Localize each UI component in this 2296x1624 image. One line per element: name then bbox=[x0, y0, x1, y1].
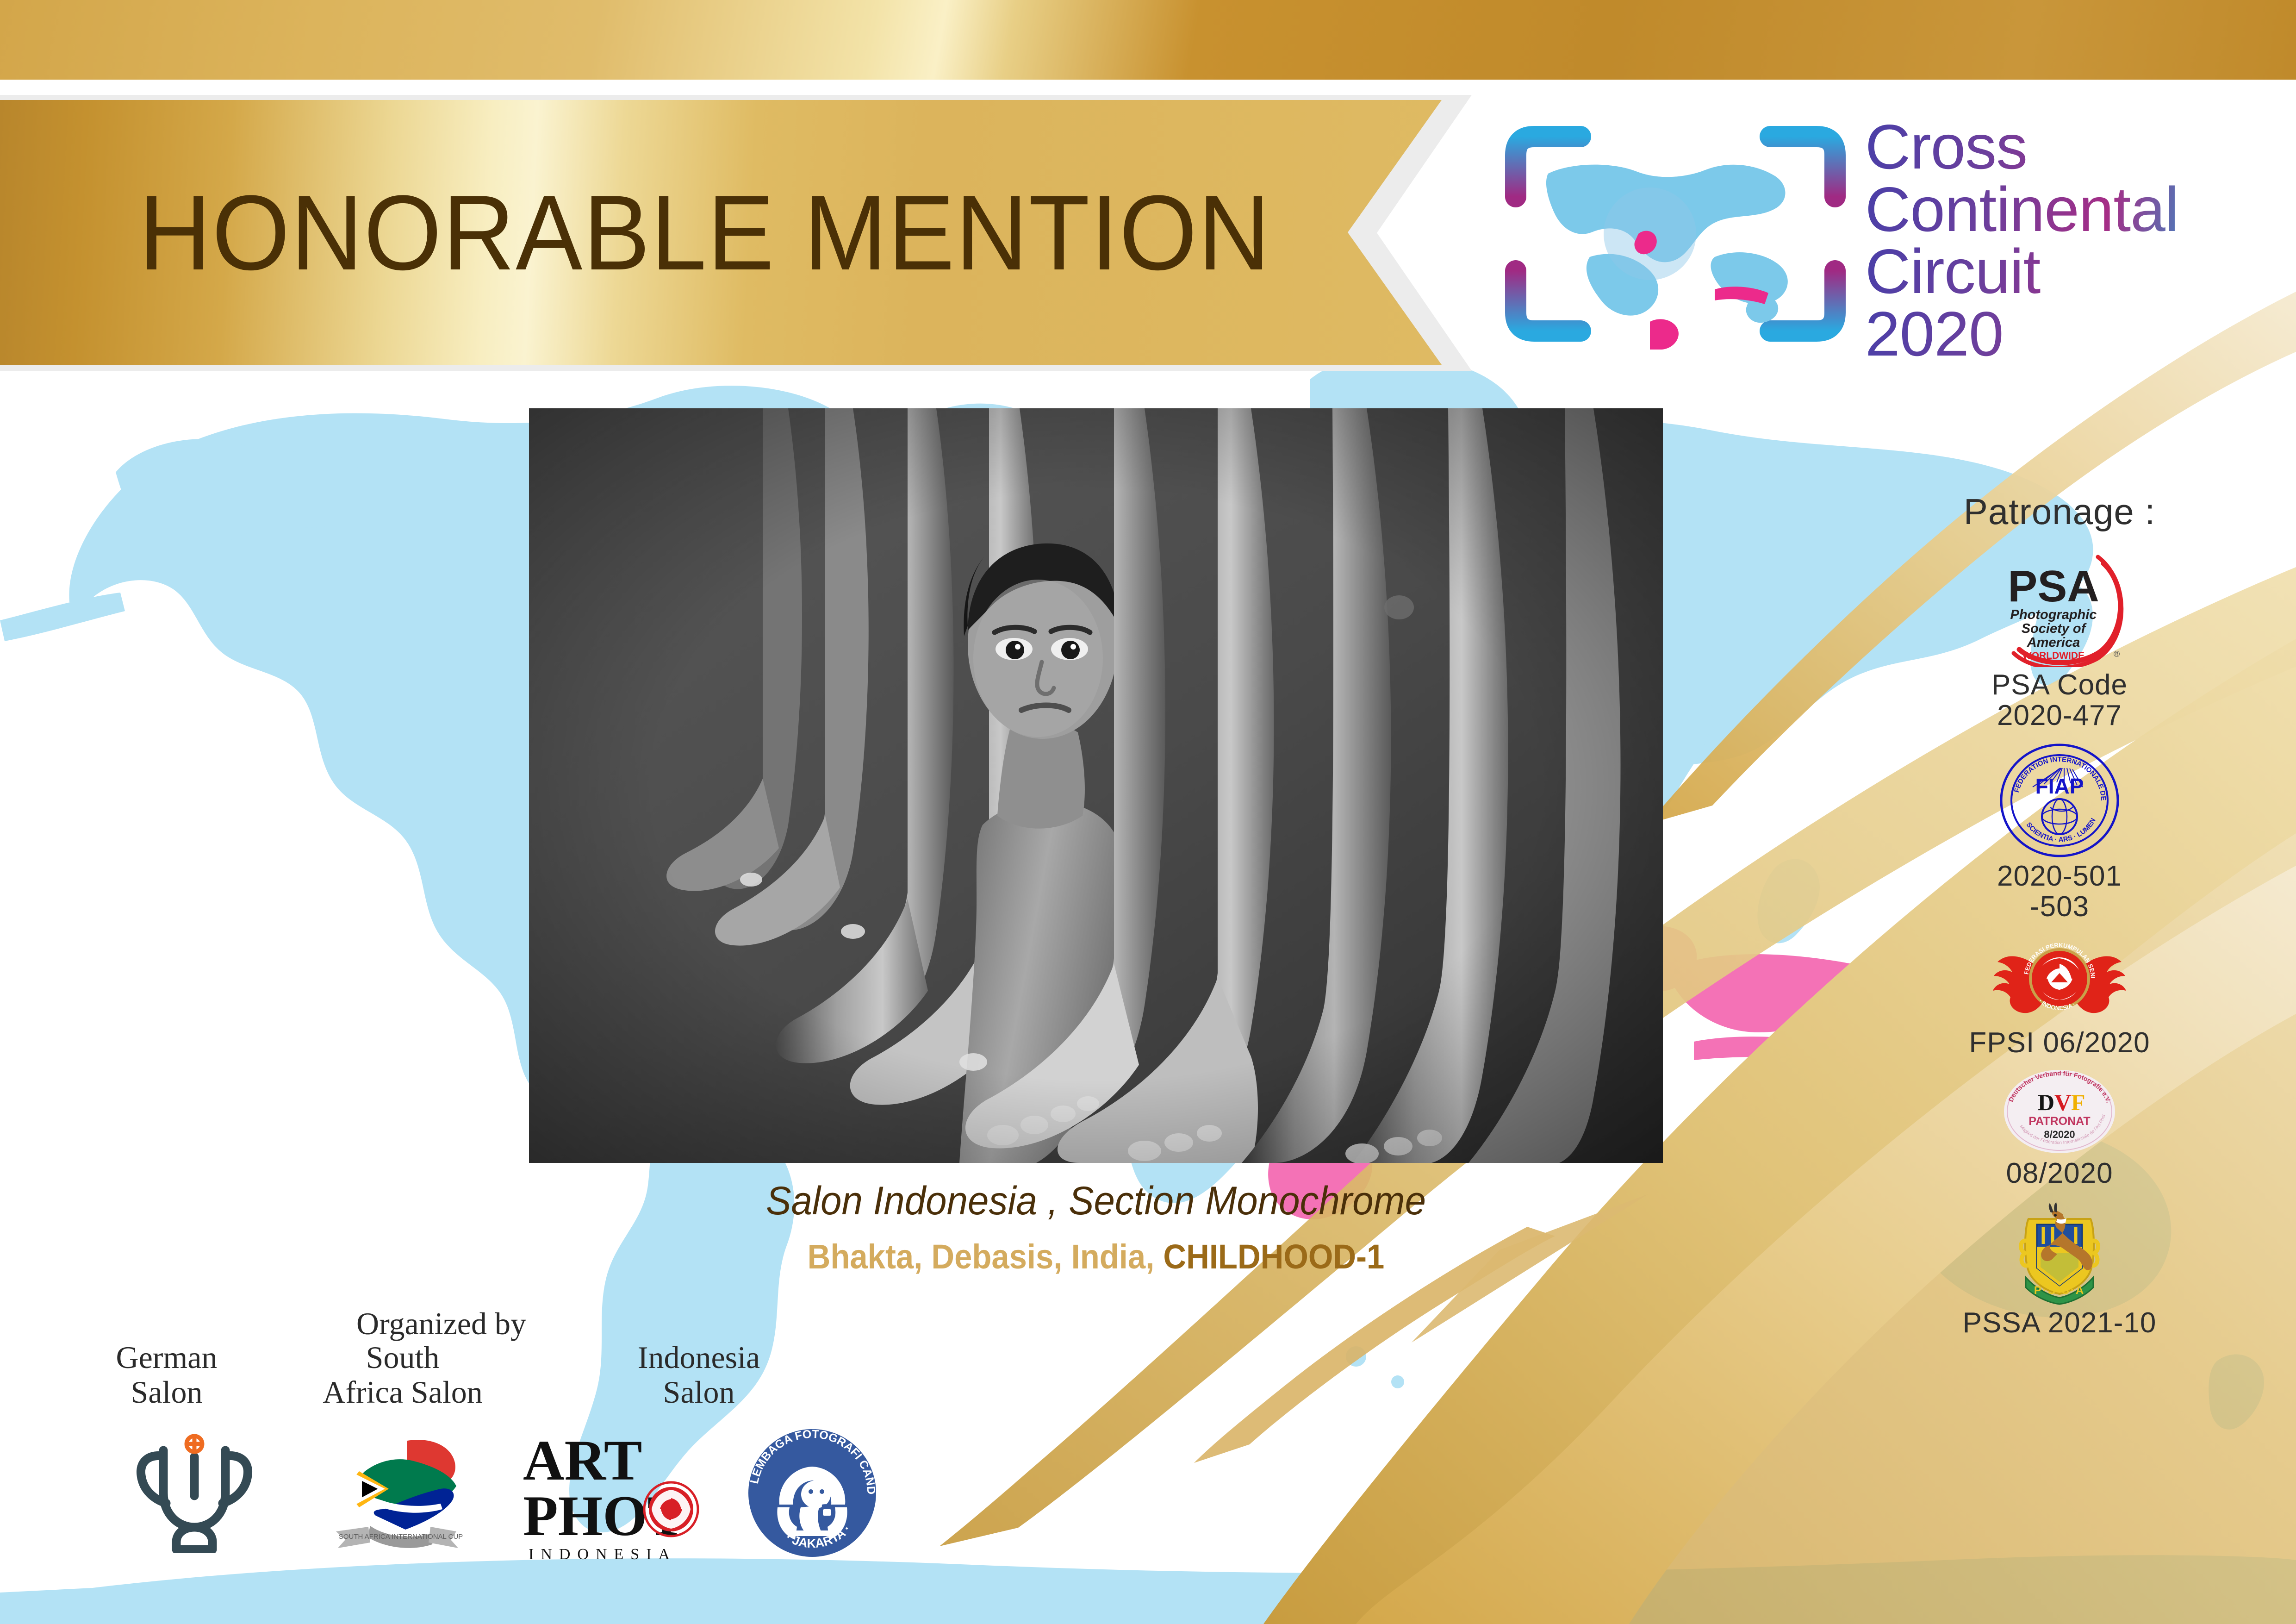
patronage-heading: Patronage : bbox=[1893, 491, 2226, 533]
fpsi-code: FPSI 06/2020 bbox=[1893, 1028, 2226, 1058]
brand-wordmark: Cross Continental Circuit 2020 bbox=[1865, 116, 2282, 365]
trophy-icon bbox=[132, 1428, 257, 1553]
svg-text:America: America bbox=[2027, 635, 2080, 650]
svg-text:Society of: Society of bbox=[2022, 621, 2087, 636]
fiap-acronym: FIAP bbox=[2035, 774, 2084, 798]
svg-text:P·S·S·A: P·S·S·A bbox=[2034, 1284, 2085, 1297]
organizer-label-german: German Salon bbox=[116, 1340, 217, 1410]
organizer-indonesia-salon: Indonesia Salon bbox=[606, 1340, 791, 1410]
brand-line-2: Continental bbox=[1865, 178, 2282, 241]
svg-text:D: D bbox=[2038, 1089, 2054, 1115]
svg-text:V: V bbox=[2054, 1089, 2071, 1115]
svg-text:8/2020: 8/2020 bbox=[2044, 1129, 2075, 1140]
entry-title: CHILDHOOD-1 bbox=[1163, 1237, 1384, 1276]
organizer-german-salon: German Salon bbox=[83, 1340, 250, 1410]
winning-photograph bbox=[529, 408, 1663, 1163]
candra-naya-logo-icon: LEMBAGA FOTOGRAFI CANDRA NAYA · JAKARTA … bbox=[731, 1412, 893, 1574]
psa-acronym: PSA bbox=[2008, 562, 2099, 611]
svg-text:WORLDWIDE: WORLDWIDE bbox=[2022, 650, 2084, 661]
fiap-code: 2020-501 -503 bbox=[1893, 861, 2226, 922]
psa-logo-icon: PSA Photographic Society of America WORL… bbox=[1988, 551, 2131, 667]
patronage-item-dvf: Deutscher Verband für Fotografie e.V. D … bbox=[1893, 1068, 2226, 1189]
south-africa-map-icon: SOUTH AFRICA INTERNATIONAL CUP bbox=[319, 1417, 472, 1569]
pssa-logo-icon: P·S·S·A bbox=[2006, 1199, 2113, 1305]
brand-line-4: 2020 bbox=[1865, 303, 2282, 365]
organized-by-label: Organized by bbox=[356, 1305, 526, 1342]
svg-text:PATRONAT: PATRONAT bbox=[2028, 1115, 2090, 1128]
organizer-south-africa-salon: South Africa Salon bbox=[292, 1340, 514, 1410]
fpsi-logo-icon: FEDERASI PERKUMPULAN SENI FOTO · INDONES… bbox=[1990, 932, 2129, 1025]
patronage-item-psa: PSA Photographic Society of America WORL… bbox=[1893, 551, 2226, 731]
salon-section-caption: Salon Indonesia , Section Monochrome bbox=[557, 1178, 1635, 1224]
entry-credit-caption: Bhakta, Debasis, India, CHILDHOOD-1 bbox=[569, 1237, 1624, 1276]
organizer-label-indonesia: Indonesia Salon bbox=[638, 1340, 760, 1410]
art-photo-indonesia-icon: ART PHOT INDONESIA bbox=[518, 1426, 713, 1565]
psa-code: PSA Code 2020-477 bbox=[1893, 670, 2226, 731]
award-title: HONORABLE MENTION bbox=[139, 100, 1270, 365]
organizer-label-south-africa: South Africa Salon bbox=[323, 1340, 483, 1410]
entry-author: Bhakta, Debasis, India, bbox=[808, 1237, 1164, 1276]
art-word: ART bbox=[523, 1429, 642, 1492]
patronage-panel: Patronage : PSA Photographic Society of … bbox=[1893, 491, 2226, 1341]
pssa-code: PSSA 2021-10 bbox=[1893, 1308, 2226, 1338]
dvf-code: 08/2020 bbox=[1893, 1158, 2226, 1189]
world-map-bracket-icon bbox=[1497, 118, 1854, 350]
fiap-logo-icon: FEDERATION INTERNATIONALE DE L'ART FIAP … bbox=[1999, 743, 2120, 858]
dvf-logo-icon: Deutscher Verband für Fotografie e.V. D … bbox=[2002, 1068, 2117, 1156]
patronage-item-fpsi: FEDERASI PERKUMPULAN SENI FOTO · INDONES… bbox=[1893, 932, 2226, 1058]
brand-line-3: Circuit bbox=[1865, 240, 2282, 303]
svg-text:F: F bbox=[2071, 1089, 2085, 1115]
brand-line-1: Cross bbox=[1865, 116, 2282, 178]
patronage-item-pssa: P·S·S·A PSSA 2021-10 bbox=[1893, 1199, 2226, 1338]
indonesia-word: INDONESIA bbox=[529, 1546, 677, 1563]
sa-ribbon-text: SOUTH AFRICA INTERNATIONAL CUP bbox=[339, 1533, 463, 1541]
svg-text:®: ® bbox=[2114, 650, 2120, 659]
svg-text:Photographic: Photographic bbox=[2010, 607, 2097, 622]
top-gold-bar bbox=[0, 0, 2296, 80]
patronage-item-fiap: FEDERATION INTERNATIONALE DE L'ART FIAP … bbox=[1893, 743, 2226, 922]
